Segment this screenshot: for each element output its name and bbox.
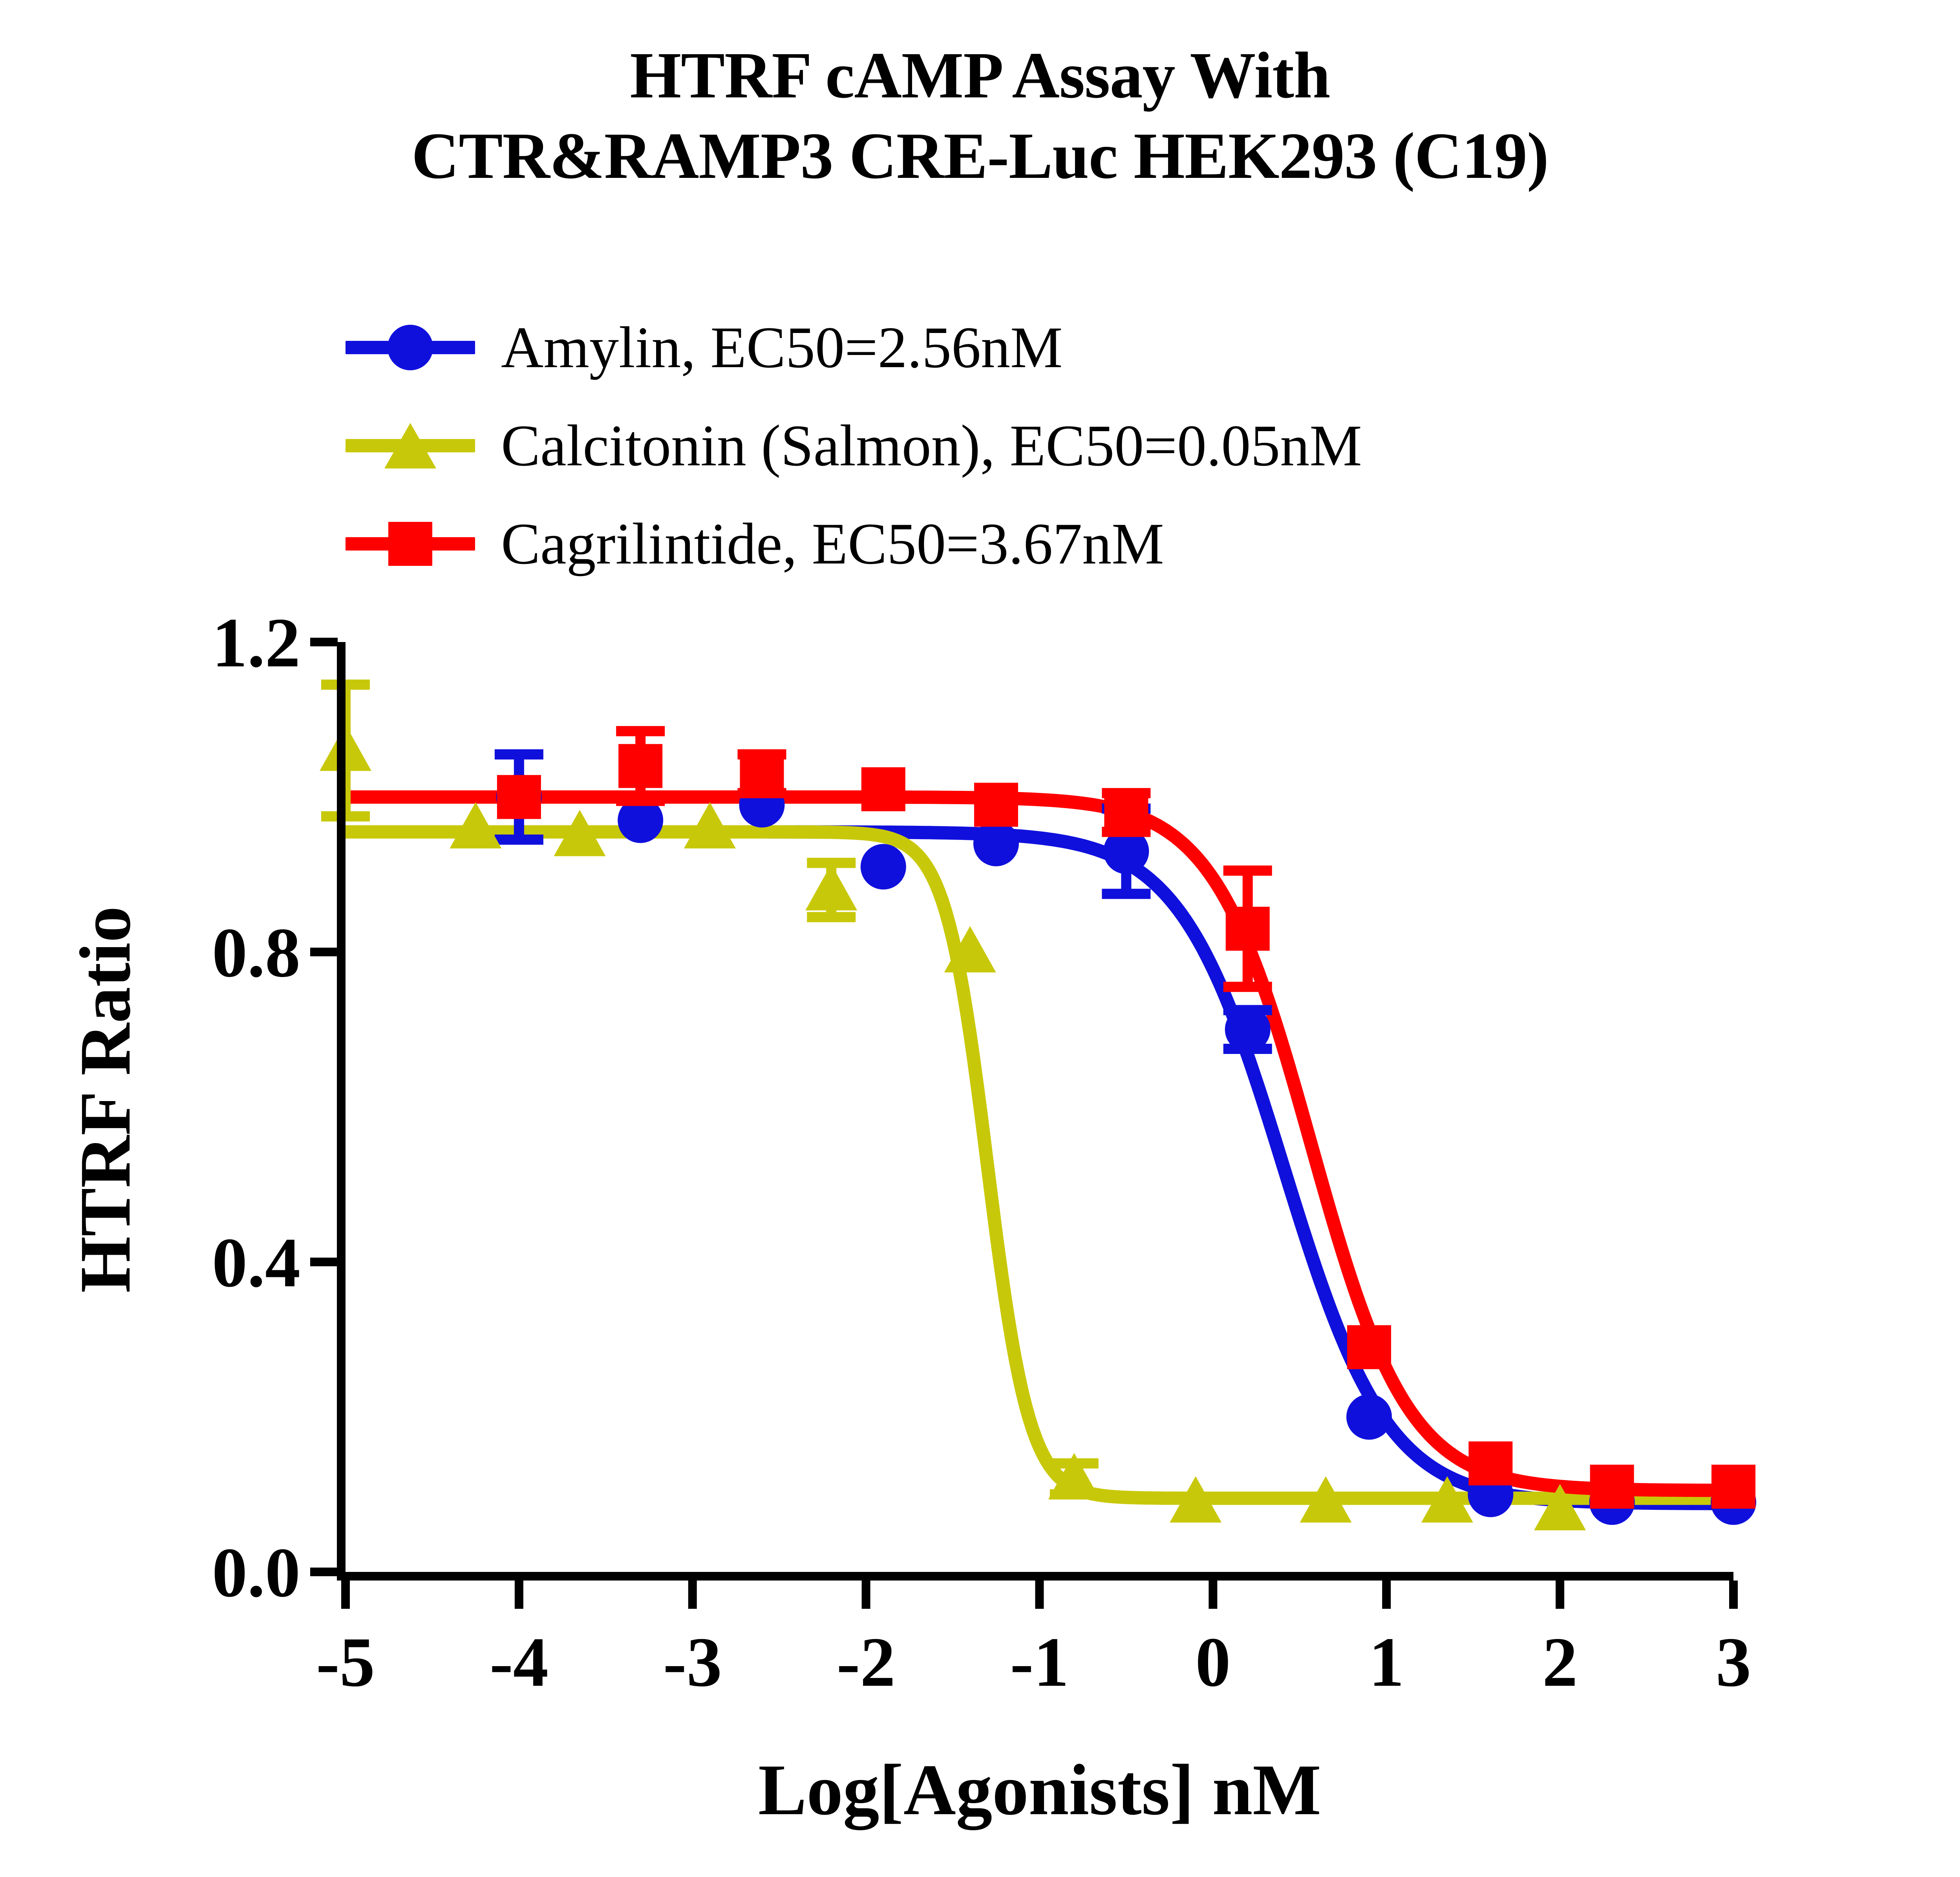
data-point-square <box>618 744 662 788</box>
x-tick <box>688 1581 697 1609</box>
x-tick-label: -5 <box>316 1623 375 1701</box>
x-axis-line <box>337 1572 1733 1581</box>
error-cap-top <box>1223 865 1272 876</box>
error-cap-top <box>616 726 665 736</box>
x-tick-label: -4 <box>490 1623 549 1701</box>
fit-curve-square <box>346 797 1733 1491</box>
y-tick-label: 0.8 <box>212 913 300 992</box>
data-point-square <box>1226 907 1270 951</box>
data-point-circle <box>1225 1007 1271 1052</box>
data-point-square <box>1590 1465 1634 1509</box>
x-tick-label: -2 <box>837 1623 896 1701</box>
x-tick-label: 2 <box>1542 1623 1578 1701</box>
x-tick <box>341 1581 350 1609</box>
data-point-square <box>740 752 784 796</box>
x-tick-label: -3 <box>663 1623 722 1701</box>
data-point-square <box>974 783 1018 827</box>
y-tick-label: 0.4 <box>212 1224 300 1302</box>
x-tick <box>1035 1581 1044 1609</box>
y-tick <box>310 948 338 956</box>
error-cap-top <box>495 749 543 759</box>
y-tick <box>310 1258 338 1266</box>
chart-page: HTRF cAMP Assay With CTR&RAMP3 CRE-Luc H… <box>0 0 1960 1877</box>
x-tick <box>515 1581 523 1609</box>
data-point-circle <box>861 844 906 889</box>
x-tick-label: -1 <box>1010 1623 1069 1701</box>
error-cap-bottom <box>807 912 856 922</box>
data-point-square <box>1347 1325 1391 1369</box>
error-cap-bottom <box>1102 889 1150 899</box>
data-point-square <box>861 767 905 811</box>
x-tick <box>1729 1581 1738 1609</box>
data-point-square <box>1104 790 1148 834</box>
x-tick <box>862 1581 870 1609</box>
fit-curve-circle <box>346 832 1733 1504</box>
data-point-triangle <box>805 864 857 910</box>
x-tick <box>1209 1581 1217 1609</box>
data-point-square <box>1468 1442 1512 1486</box>
y-axis-line <box>337 642 346 1581</box>
chart-plot-area: 0.00.40.81.2-5-4-3-2-10123 Log[Agonists]… <box>0 0 1960 1877</box>
error-cap-bottom <box>1223 982 1272 992</box>
y-tick <box>310 1568 338 1576</box>
error-cap-bottom <box>495 834 543 845</box>
curve-layer <box>346 797 1733 1504</box>
data-point-layer <box>320 680 1756 1531</box>
x-tick <box>1382 1581 1391 1609</box>
data-point-circle <box>973 821 1019 866</box>
data-point-square <box>1711 1465 1755 1509</box>
error-cap-bottom <box>616 796 665 806</box>
x-tick <box>1556 1581 1564 1609</box>
x-tick-label: 0 <box>1195 1623 1230 1701</box>
y-tick-label: 1.2 <box>212 604 300 682</box>
fit-curve-triangle <box>346 832 1733 1498</box>
data-point-circle <box>1346 1394 1392 1440</box>
x-tick-label: 1 <box>1369 1623 1404 1701</box>
y-tick <box>310 638 338 646</box>
y-tick-label: 0.0 <box>212 1533 300 1612</box>
x-tick-label: 3 <box>1716 1623 1751 1701</box>
data-point-square <box>497 775 541 819</box>
x-axis-label: Log[Agonists] nM <box>758 1750 1321 1830</box>
y-axis-label: HTRF Ratio <box>65 906 146 1293</box>
